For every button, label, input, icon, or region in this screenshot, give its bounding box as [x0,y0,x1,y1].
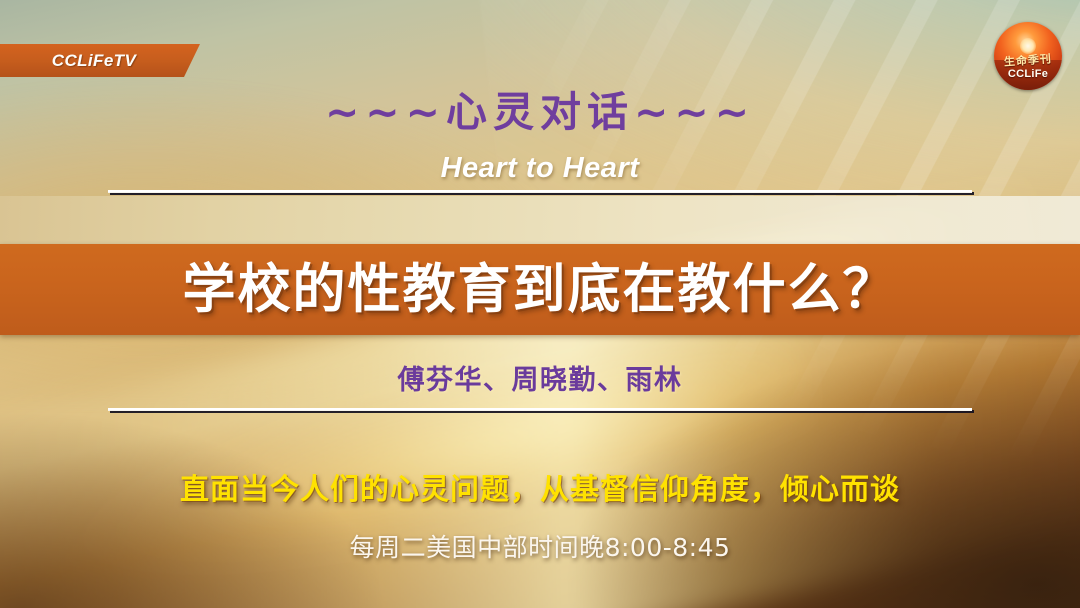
promo-slide: CCLiFeTV 生命季刊 CCLiFe ~~~心灵对话~~~ Heart to… [0,0,1080,608]
schedule-text: 每周二美国中部时间晚8:00-8:45 [0,528,1080,564]
logo-english-label: CCLiFe [1008,67,1048,81]
host-names: 傅芬华、周晓勤、雨林 [0,358,1080,397]
headline-banner: 学校的性教育到底在教什么？ [0,244,1080,335]
cclife-logo-icon[interactable]: 生命季刊 CCLiFe [994,22,1062,90]
divider-top [108,190,972,193]
tagline-text: 直面当今人们的心灵问题，从基督信仰角度，倾心而谈 [0,466,1080,508]
channel-tab[interactable]: CCLiFeTV [0,44,200,77]
divider-bottom [108,408,972,411]
logo-sun-glow-icon [1020,38,1036,54]
show-title-english: Heart to Heart [0,152,1080,185]
show-title-chinese: ~~~心灵对话~~~ [0,92,1080,133]
headline-text: 学校的性教育到底在教什么？ [183,263,898,316]
channel-tab-label: CCLiFeTV [52,51,136,71]
